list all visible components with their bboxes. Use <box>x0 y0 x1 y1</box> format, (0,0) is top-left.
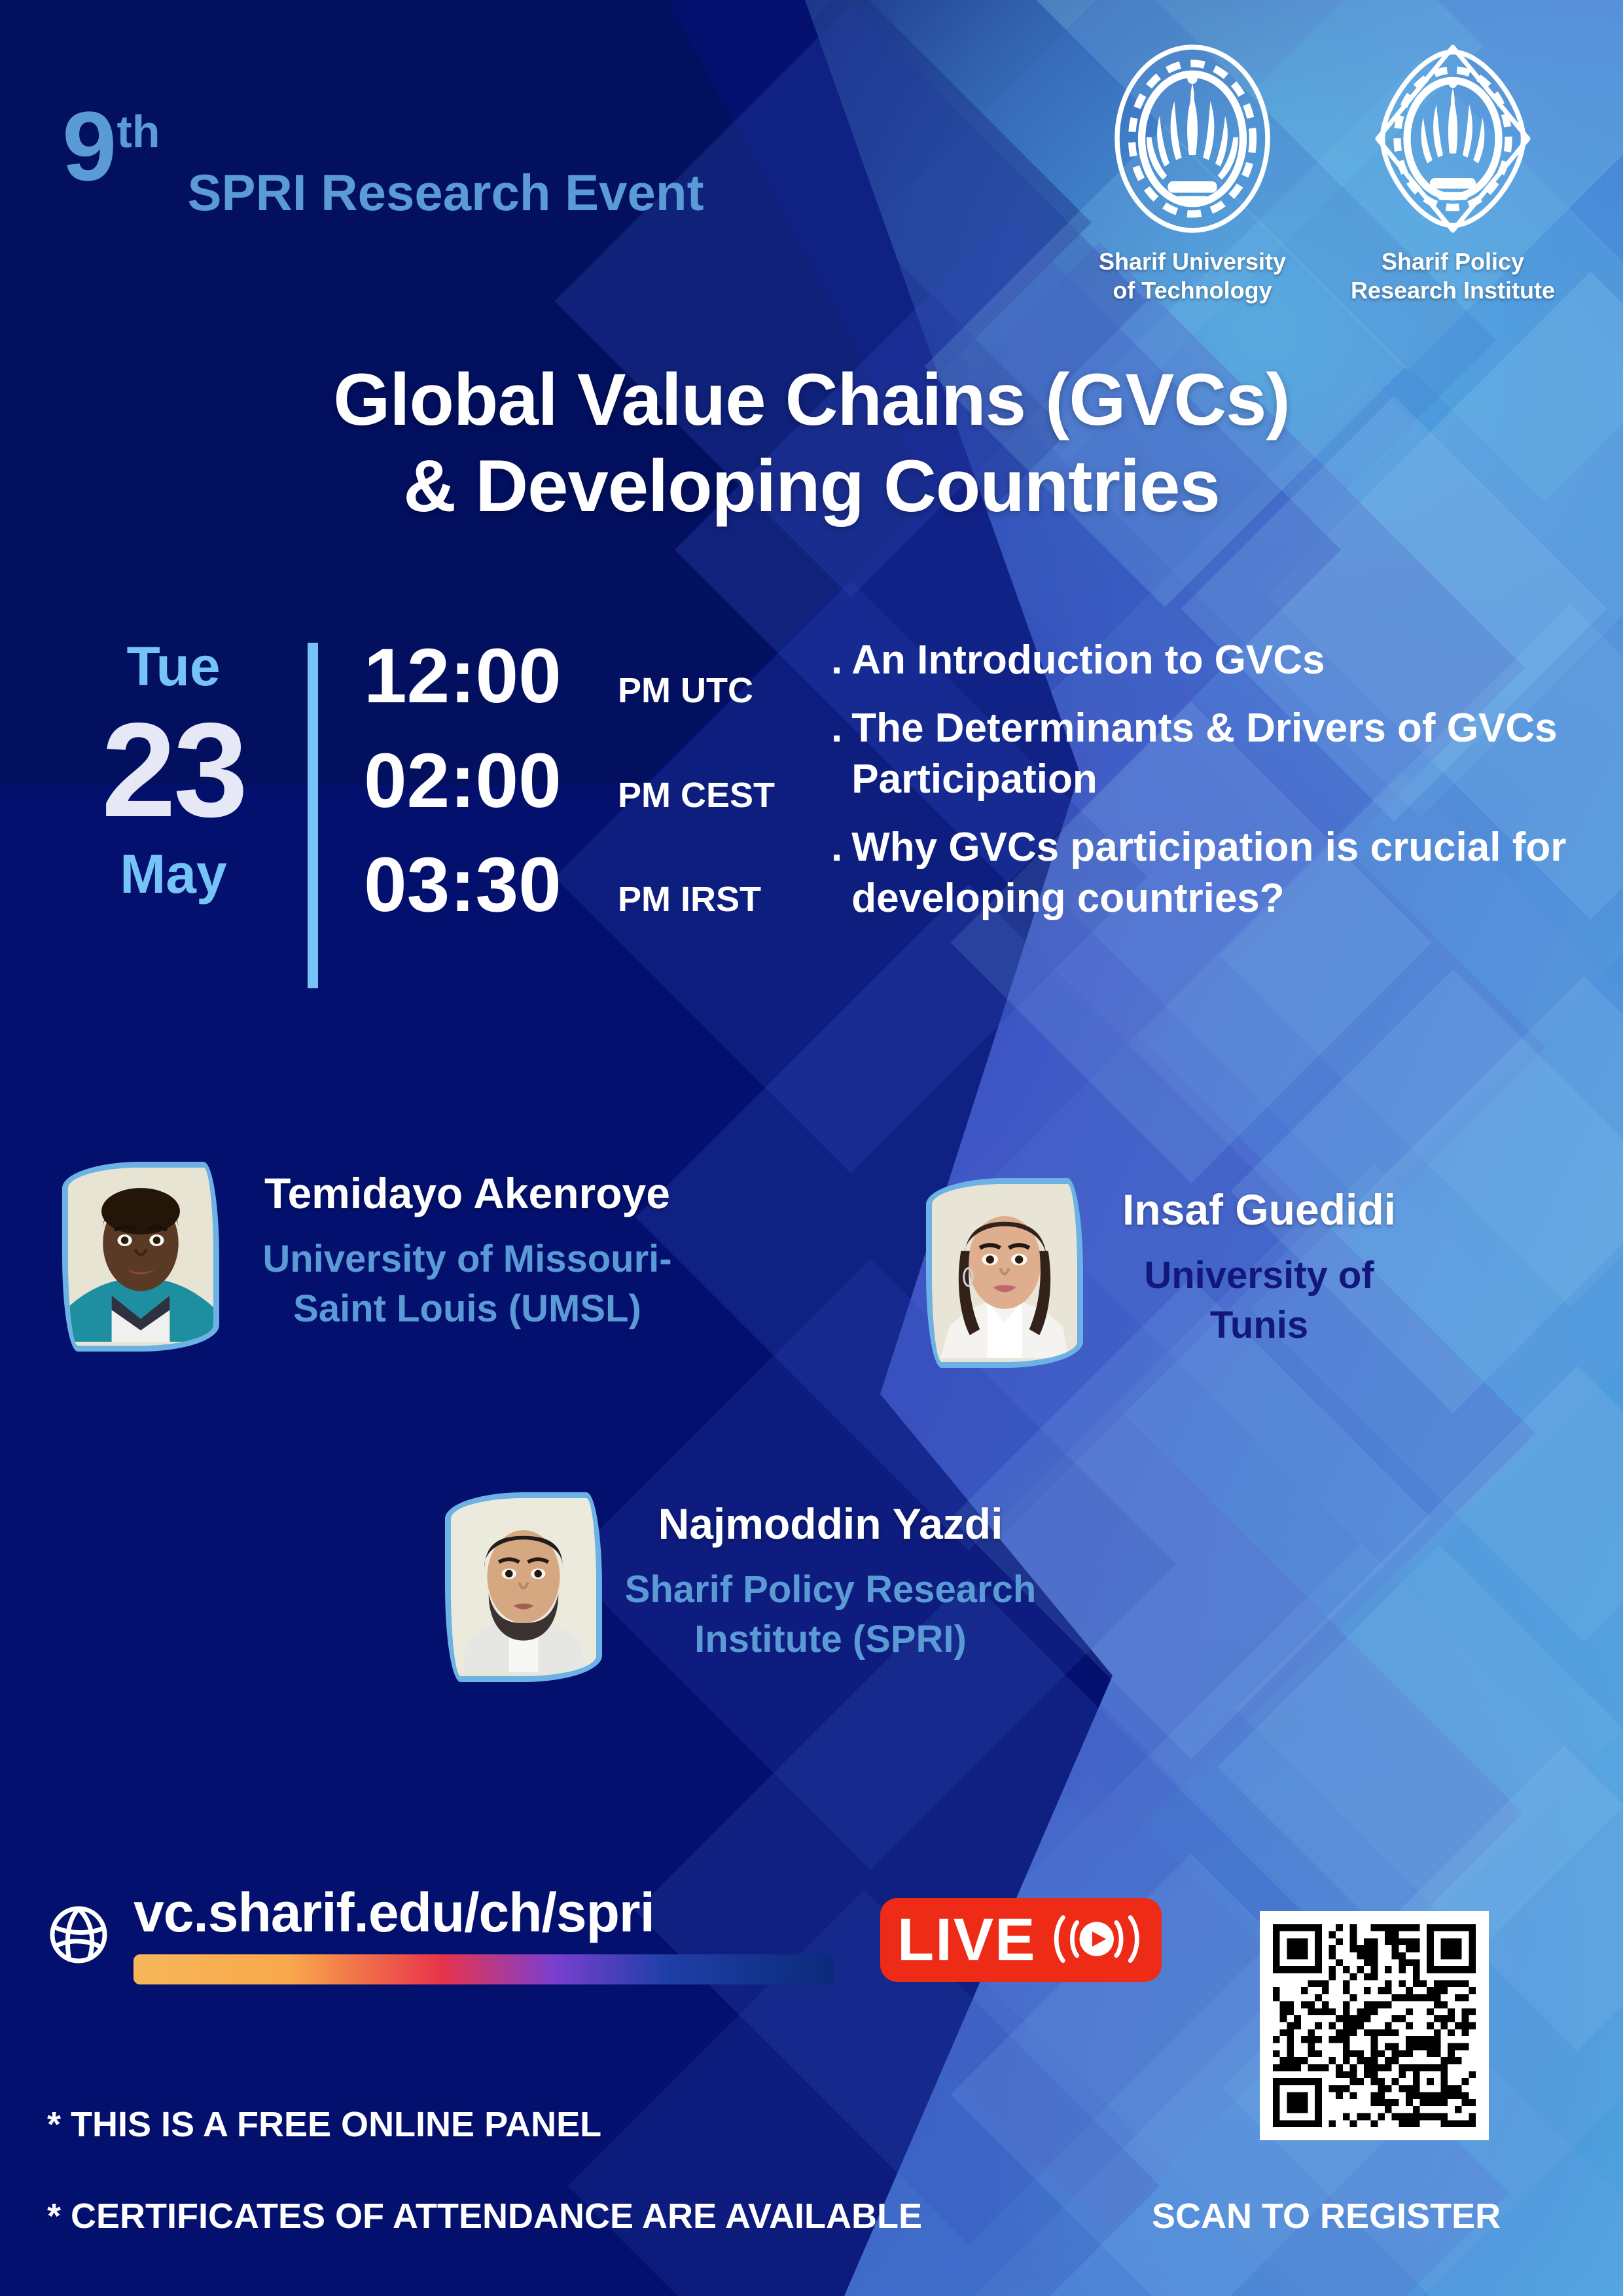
logo-sharif-university: Sharif University of Technology <box>1081 41 1304 305</box>
time-value: 03:30 <box>364 837 606 934</box>
portrait-insaf-guedidi <box>932 1184 1077 1358</box>
speaker-info: Temidayo Akenroye University of Missouri… <box>241 1162 693 1335</box>
time-list: 12:00PM UTC02:00PM CEST03:30PM IRST <box>364 628 775 934</box>
edition-number: 9 <box>62 105 115 188</box>
speaker-photo <box>926 1178 1083 1368</box>
topic-item: .The Determinants & Drivers of GVCs Part… <box>831 703 1603 805</box>
speaker-affiliation: University of Missouri-Saint Louis (UMSL… <box>241 1234 693 1335</box>
logo-caption: Sharif University of Technology <box>1081 247 1304 305</box>
stream-link-bar[interactable]: vc.sharif.edu/ch/spri <box>46 1885 834 1984</box>
date-day-of-week: Tue <box>126 639 220 694</box>
logo-caption-line1: Sharif University <box>1081 247 1304 276</box>
stream-link[interactable]: vc.sharif.edu/ch/spri <box>134 1885 834 1984</box>
live-label: LIVE <box>897 1910 1036 1970</box>
live-badge[interactable]: LIVE <box>880 1898 1162 1982</box>
logo-group: Sharif University of Technology <box>1081 41 1564 305</box>
date-time-divider <box>308 643 318 988</box>
time-zone: PM UTC <box>618 670 753 711</box>
time-zone: PM CEST <box>618 775 775 816</box>
topic-bullet: . <box>831 822 842 873</box>
speaker-name: Insaf Guedidi <box>1105 1186 1413 1234</box>
event-edition-header: 9 th SPRI Research Event <box>62 105 704 218</box>
globe-icon <box>46 1902 111 1967</box>
date-day-number: 23 <box>101 703 245 837</box>
topic-list: .An Introduction to GVCs.The Determinant… <box>831 635 1603 942</box>
qr-caption: SCAN TO REGISTER <box>1152 2196 1501 2236</box>
topic-bullet: . <box>831 703 842 754</box>
poster-title-line1: Global Value Chains (GVCs) <box>131 357 1492 443</box>
topic-bullet: . <box>831 635 842 686</box>
stream-url-underline <box>134 1954 834 1984</box>
topic-item: .Why GVCs participation is crucial for d… <box>831 822 1603 924</box>
logo-caption: Sharif Policy Research Institute <box>1342 247 1564 305</box>
speaker-photo <box>62 1162 219 1352</box>
date-month: May <box>120 846 226 901</box>
portrait-najmoddin-yazdi <box>451 1498 596 1672</box>
poster-title-line2: & Developing Countries <box>131 443 1492 529</box>
time-zone: PM IRST <box>618 879 761 920</box>
footer-note-certificates: * CERTIFICATES OF ATTENDANCE ARE AVAILAB… <box>47 2196 922 2236</box>
event-series-label: SPRI Research Event <box>188 167 704 218</box>
speaker-info: Najmoddin Yazdi Sharif Policy Research I… <box>624 1492 1037 1665</box>
logo-caption-line1: Sharif Policy <box>1342 247 1564 276</box>
stream-url[interactable]: vc.sharif.edu/ch/spri <box>134 1885 834 1940</box>
speaker-card: Temidayo Akenroye University of Missouri… <box>62 1162 693 1352</box>
speaker-name: Najmoddin Yazdi <box>624 1500 1037 1548</box>
footer-note-free-panel: * THIS IS A FREE ONLINE PANEL <box>47 2104 601 2145</box>
logo-caption-line2: of Technology <box>1081 276 1304 305</box>
sharif-university-gear-logo <box>1111 41 1274 237</box>
logo-sharif-policy-research-institute: Sharif Policy Research Institute <box>1342 41 1564 305</box>
topic-item: .An Introduction to GVCs <box>831 635 1603 686</box>
speaker-affiliation: Sharif Policy Research Institute (SPRI) <box>624 1565 1037 1665</box>
topic-label: Why GVCs participation is crucial for de… <box>851 822 1603 924</box>
time-row: 03:30PM IRST <box>364 837 775 934</box>
speaker-card: Najmoddin Yazdi Sharif Policy Research I… <box>445 1492 1037 1682</box>
speaker-photo <box>445 1492 602 1682</box>
event-poster: 9 th SPRI Research Event <box>0 0 1623 2296</box>
time-row: 12:00PM UTC <box>364 628 775 725</box>
qr-code-image <box>1273 1924 1476 2127</box>
time-value: 02:00 <box>364 733 606 830</box>
speaker-affiliation: University of Tunis <box>1105 1251 1413 1351</box>
qr-code[interactable] <box>1260 1911 1489 2140</box>
date-block: Tue 23 May <box>52 628 294 901</box>
logo-caption-line2: Research Institute <box>1342 276 1564 305</box>
poster-title: Global Value Chains (GVCs) & Developing … <box>0 357 1623 529</box>
topic-label: An Introduction to GVCs <box>851 635 1325 686</box>
sharif-policy-research-institute-gear-logo <box>1371 41 1535 237</box>
speaker-name: Temidayo Akenroye <box>241 1170 693 1217</box>
edition-ordinal: th <box>116 109 160 154</box>
time-value: 12:00 <box>364 628 606 725</box>
broadcast-icon <box>1049 1910 1145 1970</box>
portrait-temidayo-akenroye <box>68 1168 213 1342</box>
topic-label: The Determinants & Drivers of GVCs Parti… <box>851 703 1603 805</box>
speaker-card: Insaf Guedidi University of Tunis <box>926 1178 1413 1368</box>
date-time-block: Tue 23 May 12:00PM UTC02:00PM CEST03:30P… <box>52 628 775 988</box>
speaker-info: Insaf Guedidi University of Tunis <box>1105 1178 1413 1351</box>
time-row: 02:00PM CEST <box>364 733 775 830</box>
